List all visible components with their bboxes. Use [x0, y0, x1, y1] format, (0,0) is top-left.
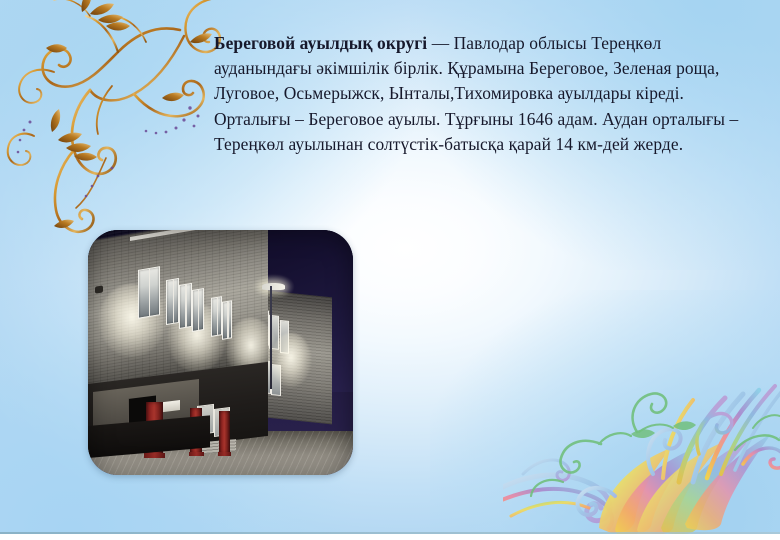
upper-window	[211, 296, 222, 337]
street-lamp-head	[262, 283, 286, 290]
building-photo-image	[88, 230, 353, 475]
upper-window	[138, 266, 160, 318]
background-tint-bottom-right	[430, 290, 780, 540]
body-text-lead: Береговой ауылдық округі	[214, 33, 427, 53]
presentation-slide: Береговой ауылдық округі — Павлодар облы…	[0, 0, 780, 540]
upper-window	[166, 278, 179, 325]
wall-light-pool	[271, 333, 311, 387]
red-brick-column	[219, 411, 230, 454]
slide-body-text: Береговой ауылдық округі — Павлодар облы…	[214, 31, 754, 157]
slide-bottom-margin	[0, 534, 780, 540]
upper-window	[179, 283, 192, 329]
building-photo[interactable]	[88, 230, 353, 475]
street-lamp-pole	[270, 286, 272, 389]
upper-window	[192, 288, 204, 332]
upper-window	[222, 300, 232, 339]
